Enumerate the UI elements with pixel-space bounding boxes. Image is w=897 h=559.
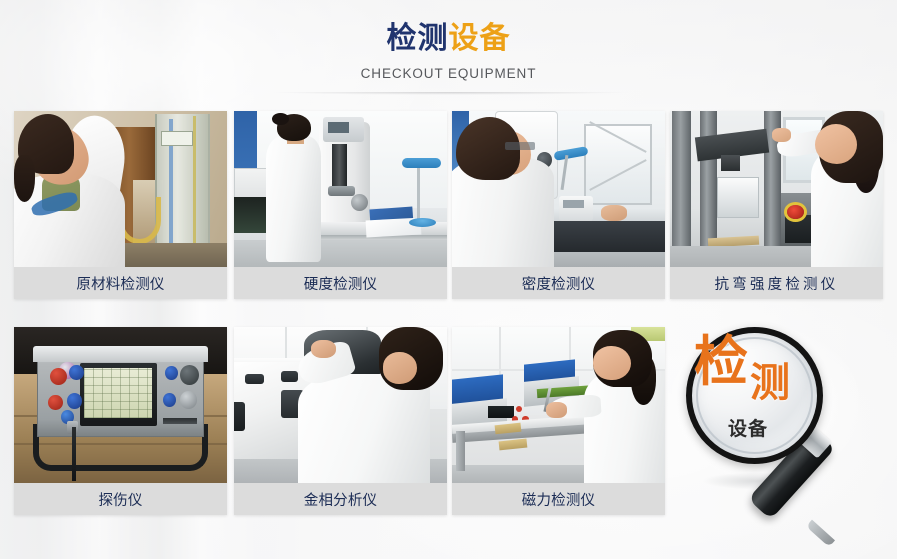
- equipment-card-3[interactable]: 密度检测仪: [452, 111, 665, 299]
- equipment-photo-raw-material-tester: [14, 111, 227, 268]
- equipment-caption: 硬度检测仪: [234, 267, 447, 299]
- equipment-caption: 探伤仪: [14, 483, 227, 515]
- equipment-caption: 金相分析仪: [234, 483, 447, 515]
- equipment-photo-magnetic-tester: [452, 327, 665, 484]
- equipment-card-6[interactable]: 金相分析仪: [234, 327, 447, 515]
- magnifier-logo-subtitle: 设备: [728, 414, 768, 441]
- page-title-primary: 检测: [387, 22, 449, 55]
- equipment-caption: 原材料检测仪: [14, 267, 227, 299]
- equipment-caption: 抗弯强度检测仪: [670, 267, 883, 299]
- equipment-photo-hardness-tester: [234, 111, 447, 268]
- page-title: 检测设备: [0, 22, 897, 55]
- magnifier-logo-char-2: 测: [750, 364, 788, 403]
- equipment-caption: 密度检测仪: [452, 267, 665, 299]
- page-header: 检测设备 CHECKOUT EQUIPMENT: [0, 0, 897, 96]
- equipment-photo-flaw-detector: [14, 327, 227, 484]
- equipment-card-4[interactable]: 抗弯强度检测仪: [670, 111, 883, 299]
- equipment-card-1[interactable]: 原材料检测仪: [14, 111, 227, 299]
- equipment-photo-bending-strength-tester: [670, 111, 883, 268]
- page-subtitle: CHECKOUT EQUIPMENT: [0, 66, 897, 81]
- equipment-photo-density-tester: [452, 111, 665, 268]
- magnifier-logo-char-1: 检: [694, 332, 746, 392]
- page-title-secondary: 设备: [449, 22, 511, 55]
- equipment-card-7[interactable]: 磁力检测仪: [452, 327, 665, 515]
- equipment-photo-metallographic-analyzer: [234, 327, 447, 484]
- equipment-card-5[interactable]: 探伤仪: [14, 327, 227, 515]
- magnifier-logo: 检测 设备: [672, 318, 897, 559]
- magnifier-logo-title: 检测: [694, 336, 818, 389]
- equipment-caption: 磁力检测仪: [452, 483, 665, 515]
- equipment-card-2[interactable]: 硬度检测仪: [234, 111, 447, 299]
- page-root: 检测设备 CHECKOUT EQUIPMENT 原材料检测仪: [0, 0, 897, 559]
